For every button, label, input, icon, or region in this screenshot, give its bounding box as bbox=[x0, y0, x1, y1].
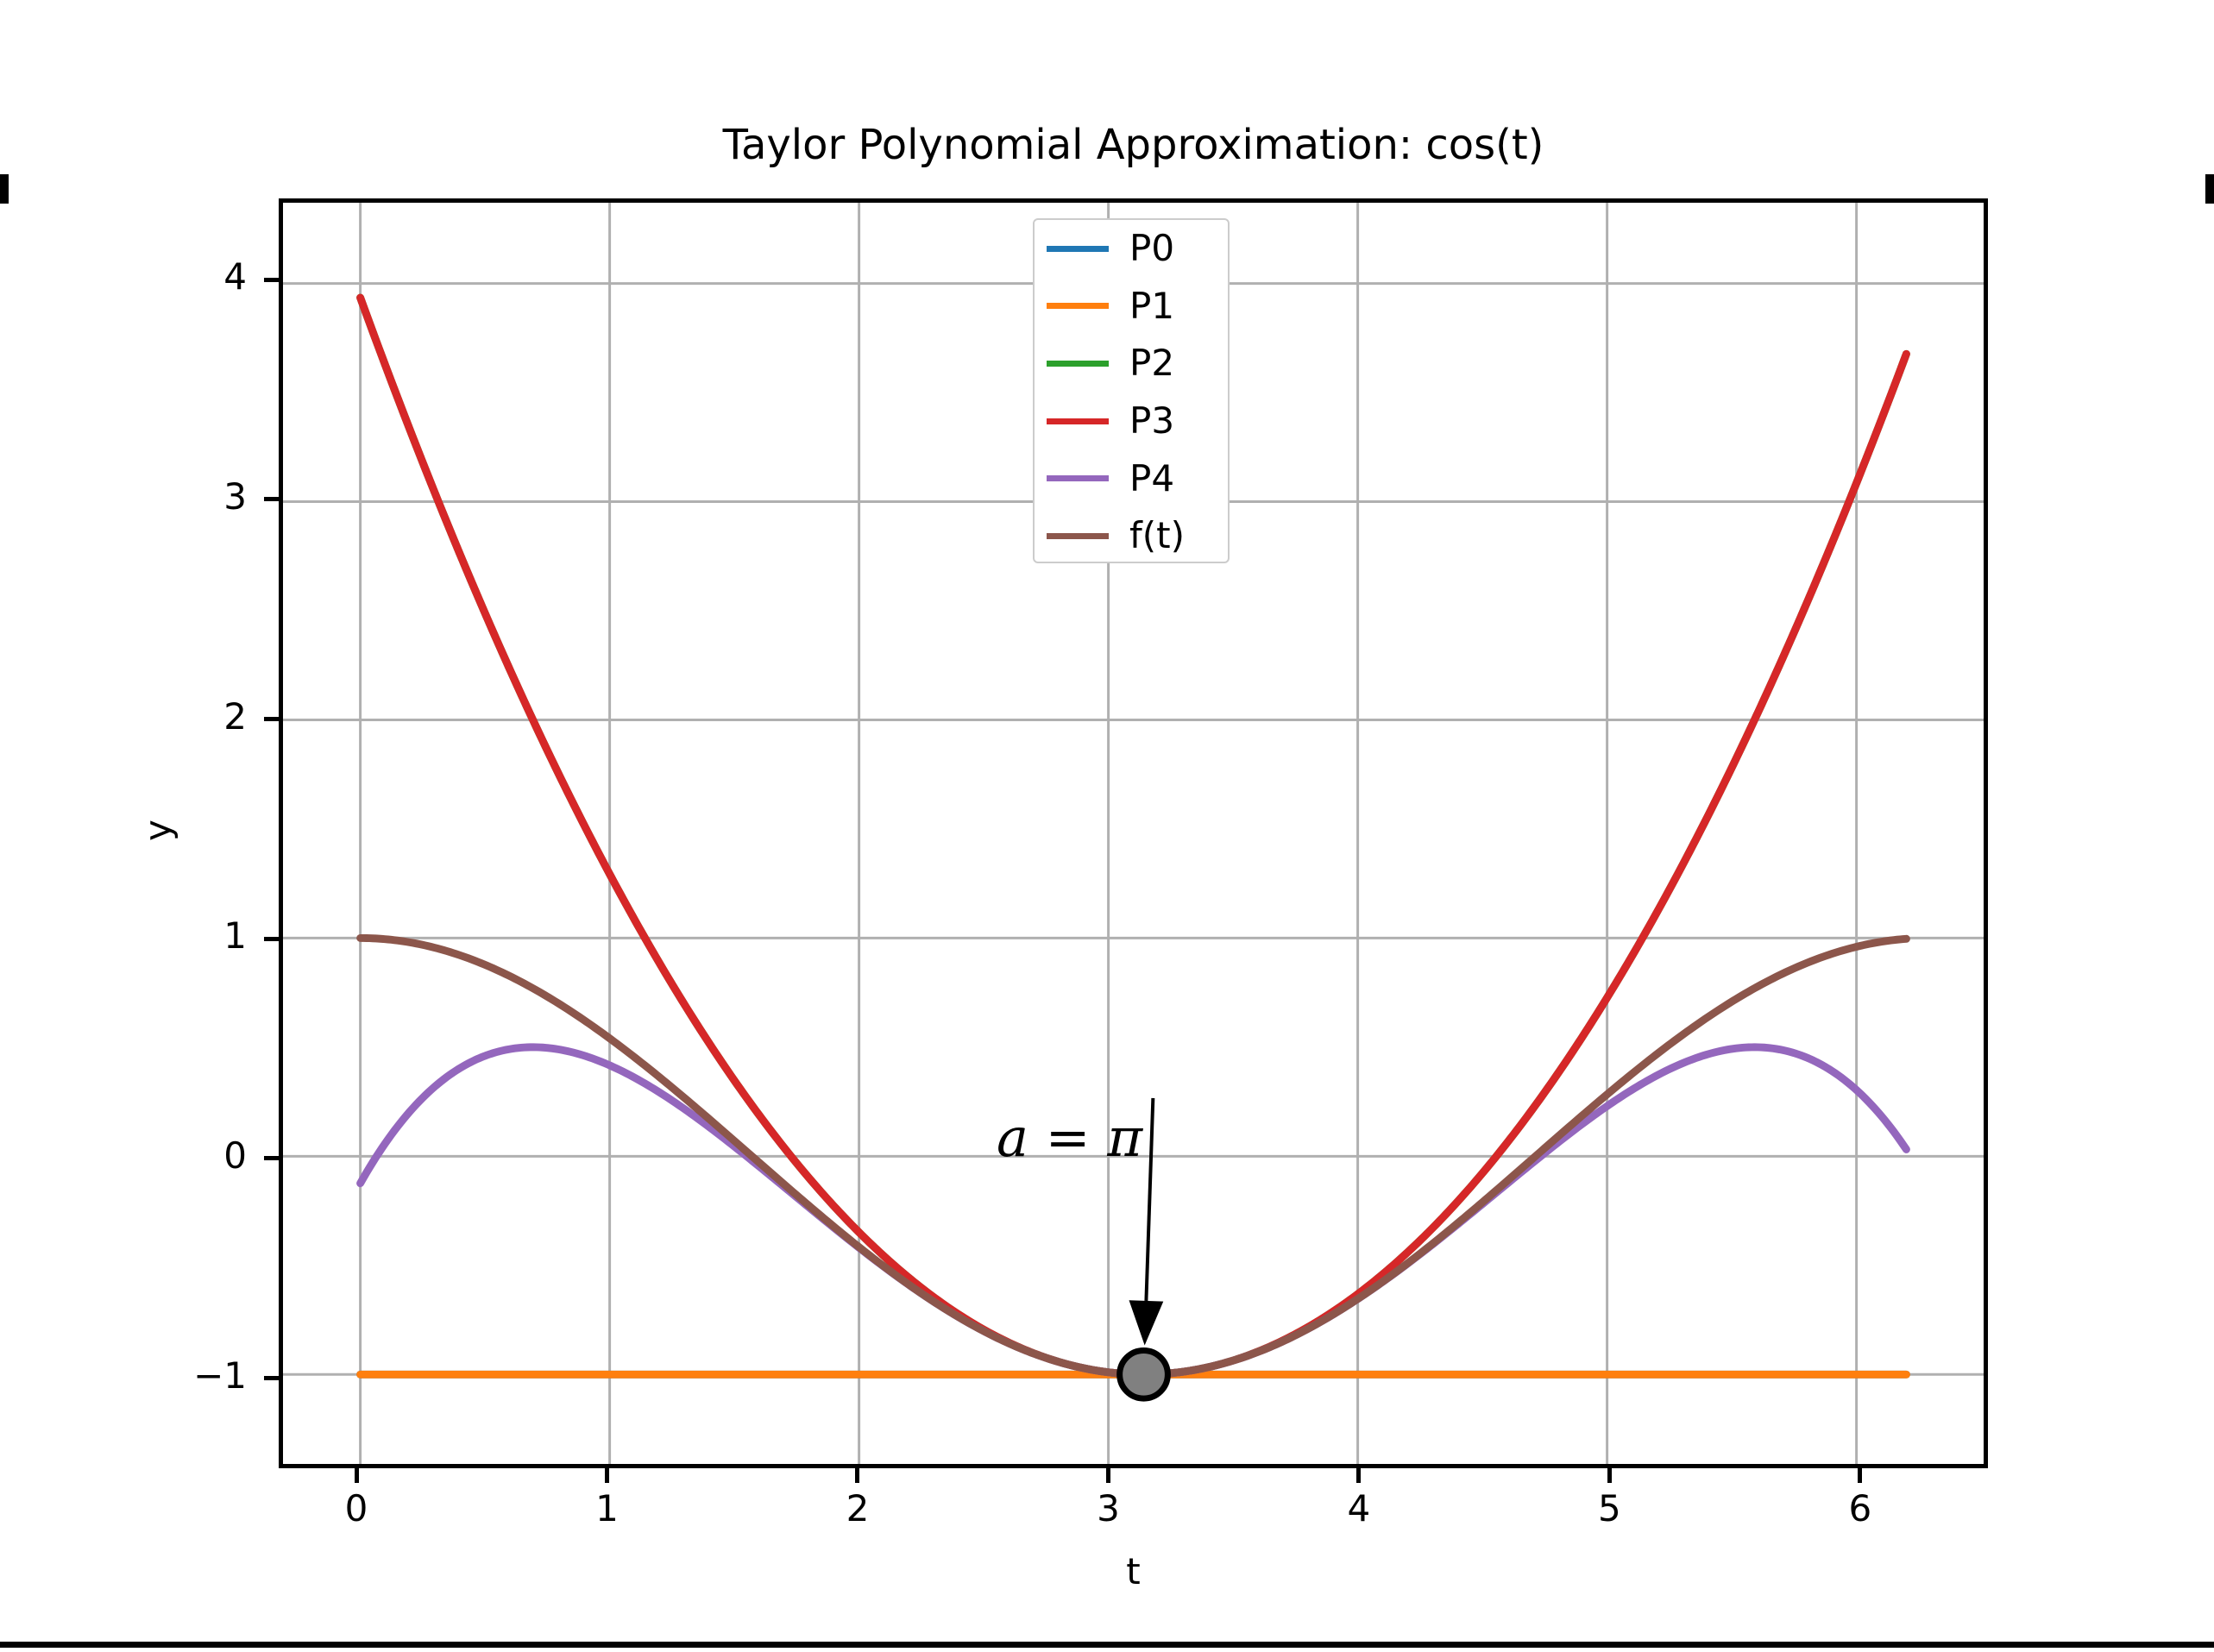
legend-item[interactable]: P4 bbox=[1035, 449, 1228, 507]
legend-swatch-icon bbox=[1047, 246, 1109, 252]
y-axis-label: y bbox=[137, 744, 179, 917]
x-axis-tick-label: 5 bbox=[1523, 1487, 1695, 1530]
axis-tick-mark bbox=[605, 1468, 609, 1483]
y-axis-tick-label: 3 bbox=[74, 475, 247, 518]
y-axis-tick-label: 4 bbox=[74, 255, 247, 298]
axis-tick-mark bbox=[264, 937, 279, 941]
right-edge-marker bbox=[2205, 174, 2214, 204]
x-axis-tick-label: 6 bbox=[1774, 1487, 1947, 1530]
axis-tick-mark bbox=[264, 717, 279, 721]
axis-tick-mark bbox=[1356, 1468, 1361, 1483]
legend: P0 P1 P2 P3 P4 f(t) bbox=[1033, 218, 1230, 563]
axis-tick-mark bbox=[264, 278, 279, 282]
legend-swatch-icon bbox=[1047, 475, 1109, 481]
x-axis-label: t bbox=[1047, 1550, 1220, 1592]
y-axis-tick-label: 0 bbox=[74, 1134, 247, 1177]
legend-swatch-icon bbox=[1047, 533, 1109, 539]
legend-item[interactable]: P3 bbox=[1035, 393, 1228, 450]
annotation-label-a-equals-pi: a = π bbox=[997, 1106, 1142, 1169]
x-axis-tick-label: 2 bbox=[771, 1487, 944, 1530]
legend-item[interactable]: P2 bbox=[1035, 335, 1228, 393]
x-axis-tick-label: 0 bbox=[270, 1487, 443, 1530]
legend-item-label: f(t) bbox=[1129, 518, 1185, 554]
axis-tick-mark bbox=[855, 1468, 859, 1483]
legend-swatch-icon bbox=[1047, 303, 1109, 309]
legend-item-label: P4 bbox=[1129, 461, 1174, 497]
legend-item[interactable]: f(t) bbox=[1035, 507, 1228, 565]
legend-swatch-icon bbox=[1047, 361, 1109, 367]
legend-item-label: P0 bbox=[1129, 230, 1174, 267]
legend-item[interactable]: P1 bbox=[1035, 278, 1228, 336]
left-edge-marker bbox=[0, 174, 9, 204]
figure-canvas: Taylor Polynomial Approximation: cos(t) … bbox=[0, 0, 2214, 1652]
y-axis-tick-label: 2 bbox=[74, 695, 247, 738]
x-axis-tick-label: 4 bbox=[1273, 1487, 1445, 1530]
figure-bottom-rule bbox=[0, 1642, 2214, 1648]
axis-tick-mark bbox=[1607, 1468, 1612, 1483]
axis-tick-mark bbox=[355, 1468, 359, 1483]
axis-tick-mark bbox=[1858, 1468, 1862, 1483]
legend-item[interactable]: P0 bbox=[1035, 220, 1228, 278]
axis-tick-mark bbox=[1106, 1468, 1110, 1483]
axis-tick-mark bbox=[264, 497, 279, 501]
legend-item-label: P3 bbox=[1129, 403, 1174, 439]
x-axis-tick-label: 3 bbox=[1022, 1487, 1194, 1530]
legend-swatch-icon bbox=[1047, 418, 1109, 424]
y-axis-tick-label: −1 bbox=[74, 1354, 247, 1397]
axis-tick-mark bbox=[264, 1156, 279, 1160]
chart-title: Taylor Polynomial Approximation: cos(t) bbox=[279, 121, 1988, 169]
legend-item-label: P2 bbox=[1129, 345, 1174, 381]
legend-item-label: P1 bbox=[1129, 288, 1174, 324]
y-axis-tick-label: 1 bbox=[74, 914, 247, 957]
axis-tick-mark bbox=[264, 1376, 279, 1380]
x-axis-tick-label: 1 bbox=[521, 1487, 694, 1530]
